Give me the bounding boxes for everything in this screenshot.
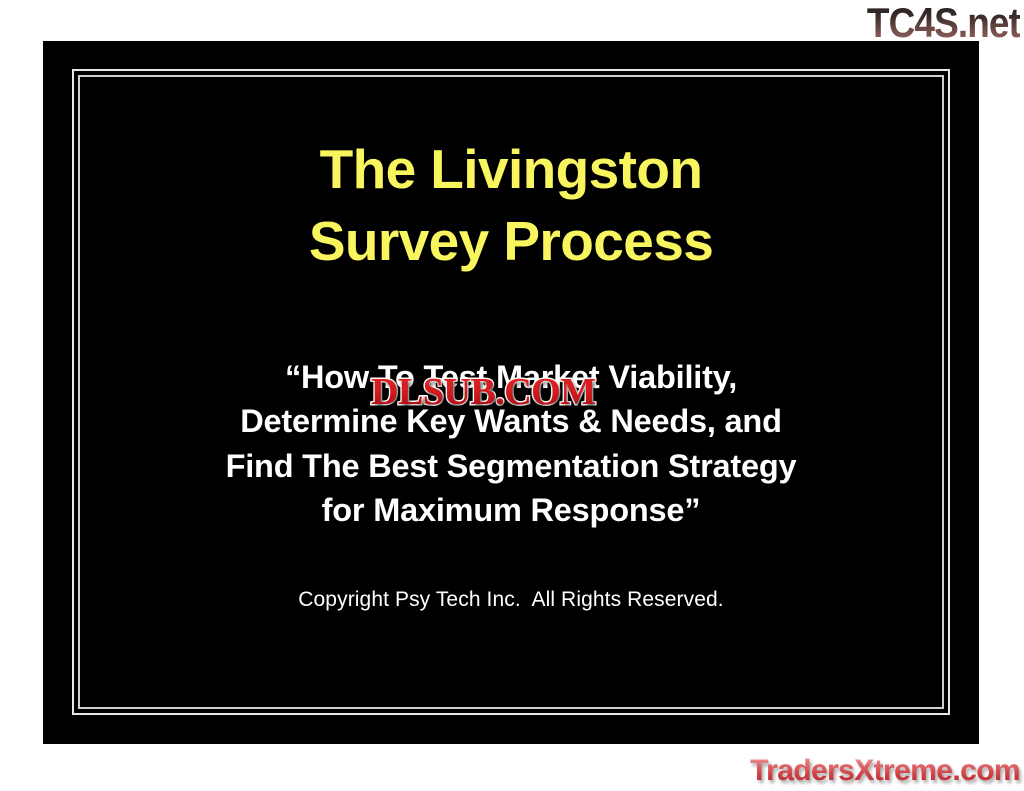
watermark-tradersxtreme-com: TradersXtreme.com [750,755,1020,787]
slide-title: The Livingston Survey Process [104,134,918,277]
slide-page: TC4S.net TC4S.net The Livingston Survey … [0,0,1024,791]
watermark-dlsub-com: DLSUB.COM [371,373,596,411]
watermark-tc4s-net: TC4S.net [867,2,1020,44]
slide-copyright-notice: Copyright Psy Tech Inc. All Rights Reser… [104,588,918,612]
